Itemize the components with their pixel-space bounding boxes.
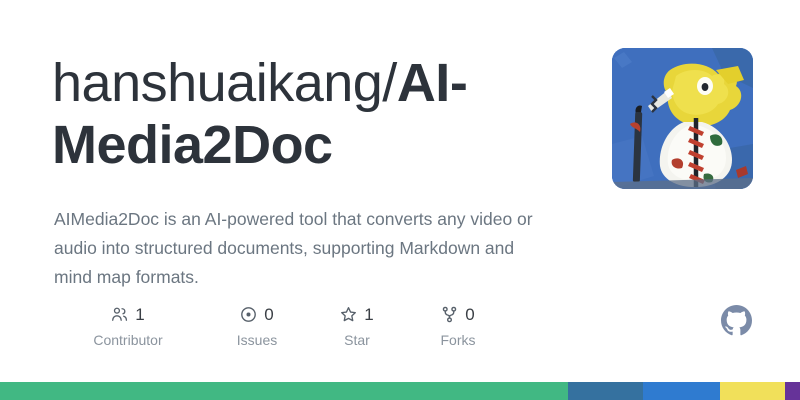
stat-value: 0 bbox=[465, 305, 474, 324]
stat-value: 1 bbox=[364, 305, 373, 324]
stat-value: 1 bbox=[135, 305, 144, 324]
stat-star[interactable]: 1 Star bbox=[310, 303, 404, 349]
stat-contributor[interactable]: 1 Contributor bbox=[52, 303, 204, 349]
stat-issues[interactable]: 0 Issues bbox=[204, 303, 310, 349]
page-title: hanshuaikang/AI-Media2Doc bbox=[52, 52, 572, 176]
stat-label: Contributor bbox=[52, 332, 204, 349]
star-icon bbox=[340, 306, 357, 323]
stat-label: Star bbox=[310, 332, 404, 349]
repository-preview-card: hanshuaikang/AI-Media2Doc bbox=[0, 0, 800, 400]
avatar[interactable] bbox=[612, 48, 753, 189]
language-segment-5 bbox=[785, 382, 800, 400]
repo-name-separator: / bbox=[382, 53, 397, 113]
stat-value: 0 bbox=[264, 305, 273, 324]
language-segment-3 bbox=[643, 382, 720, 400]
stat-label: Issues bbox=[204, 332, 310, 349]
language-bar bbox=[0, 382, 800, 400]
repo-description: AIMedia2Doc is an AI-powered tool that c… bbox=[54, 205, 554, 292]
language-segment-4 bbox=[720, 382, 785, 400]
repo-stats: 1 Contributor 0 Issues bbox=[52, 303, 532, 358]
people-icon bbox=[111, 306, 128, 323]
language-segment-2 bbox=[568, 382, 643, 400]
github-mark-icon[interactable] bbox=[721, 305, 752, 336]
repo-owner[interactable]: hanshuaikang bbox=[52, 53, 382, 113]
repo-forked-icon bbox=[441, 306, 458, 323]
issue-opened-icon bbox=[240, 306, 257, 323]
language-segment-1 bbox=[0, 382, 568, 400]
stat-label: Forks bbox=[404, 332, 512, 349]
stat-forks[interactable]: 0 Forks bbox=[404, 303, 512, 349]
